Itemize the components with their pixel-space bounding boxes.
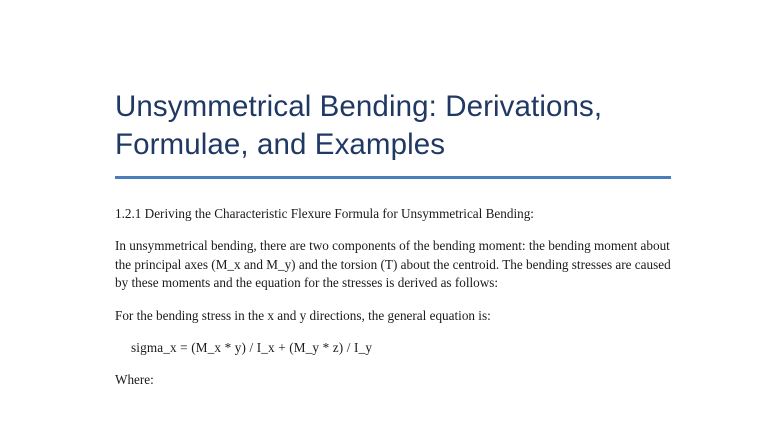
paragraph-intro: In unsymmetrical bending, there are two … (115, 237, 671, 292)
document-body: 1.2.1 Deriving the Characteristic Flexur… (115, 205, 671, 389)
title-underline-rule (115, 176, 671, 179)
document-content: Unsymmetrical Bending: Derivations, Form… (115, 0, 671, 389)
page-title: Unsymmetrical Bending: Derivations, Form… (115, 0, 671, 164)
paragraph-where: Where: (115, 371, 671, 389)
paragraph-general-equation-lead-in: For the bending stress in the x and y di… (115, 307, 671, 325)
formula-sigma-x: sigma_x = (M_x * y) / I_x + (M_y * z) / … (131, 339, 671, 357)
document-page: Unsymmetrical Bending: Derivations, Form… (0, 0, 784, 441)
section-heading: 1.2.1 Deriving the Characteristic Flexur… (115, 205, 671, 223)
